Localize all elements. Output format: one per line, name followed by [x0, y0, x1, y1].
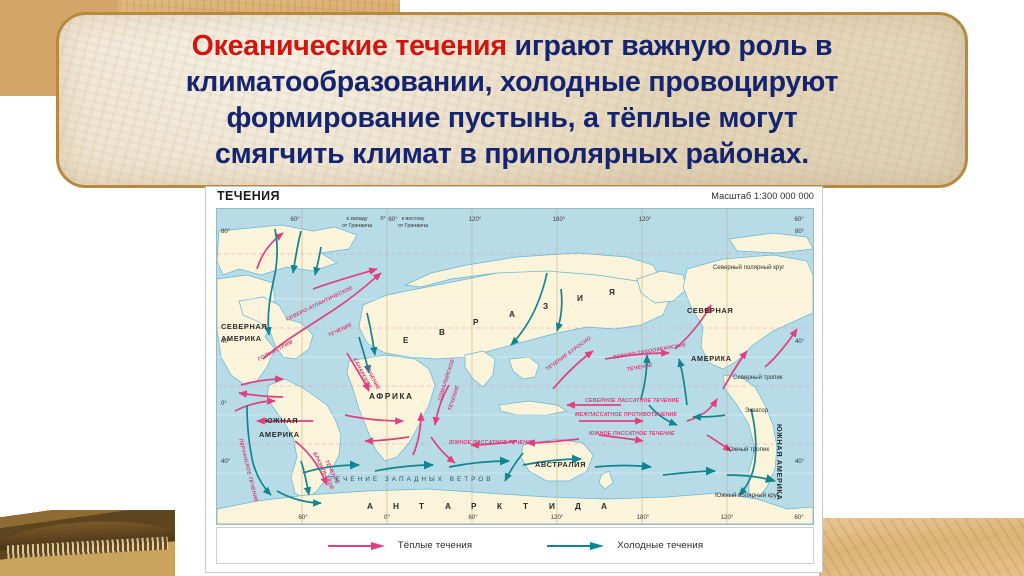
- lat-line-equator: Экватор: [745, 407, 769, 414]
- current-label-equatorial-counter: МЕЖПАССАТНОЕ ПРОТИВОТЕЧЕНИЕ: [575, 412, 677, 418]
- lat-label-right: 40°: [795, 458, 805, 465]
- greenwich-east-label-2: от Гринвича: [398, 223, 428, 229]
- page-title: Океанические течения играют важную роль …: [72, 28, 952, 172]
- grid-label-top: 120°: [469, 216, 482, 223]
- grid-label-bottom: 180°: [637, 514, 650, 521]
- continent-label-africa: АФРИКА: [369, 392, 414, 401]
- continent-label-australia: АВСТРАЛИЯ: [535, 460, 586, 469]
- continent-letter-antarctica: Р: [471, 502, 478, 511]
- lat-label-left: 0°: [221, 400, 227, 407]
- continent-letter-eurasia: В: [439, 328, 447, 337]
- legend-item-cold: Холодные течения: [546, 540, 703, 552]
- lat-line-antarctic-circle: Южный полярный круг: [715, 492, 780, 499]
- grid-label-top: 60°: [290, 216, 300, 223]
- continent-label-south-america: ЮЖНАЯ: [265, 416, 298, 425]
- current-label-south-equatorial: ЮЖНОЕ ПАССАТНОЕ ТЕЧЕНИЕ: [589, 431, 675, 437]
- grid-label-bottom: 120°: [721, 514, 734, 521]
- greenwich-west-label-2: от Гринвича: [342, 223, 372, 229]
- parchment-band-bottom-right: [819, 518, 1024, 576]
- title-line-4: смягчить климат в приполярных районах.: [215, 138, 809, 170]
- continent-label-north-america: СЕВЕРНАЯ: [221, 322, 267, 331]
- continent-letter-eurasia: Е: [403, 336, 410, 345]
- title-line-3: формирование пустынь, а тёплые могут: [227, 102, 798, 134]
- continent-letter-antarctica: Н: [393, 502, 401, 511]
- continent-letter-eurasia: Я: [609, 288, 617, 297]
- world-currents-map: 60° 60° 120° 180° 120° 60° к западу от Г…: [216, 208, 814, 525]
- grid-label-bottom: 60°: [468, 514, 478, 521]
- title-highlight: Океанические течения: [192, 30, 507, 62]
- title-line-2: климатообразовании, холодные провоцируют: [186, 66, 838, 98]
- slide-root: Океанические течения играют важную роль …: [0, 0, 1024, 576]
- greenwich-zero-label: 0°: [380, 216, 385, 222]
- continent-label-south-america-right: ЮЖНАЯ АМЕРИКА: [775, 424, 784, 501]
- warm-arrow-icon: [327, 540, 389, 552]
- lat-line-arctic-circle: Северный полярный круг: [713, 264, 785, 271]
- continent-letter-antarctica: Т: [419, 502, 426, 511]
- legend-label-cold: Холодные течения: [617, 540, 703, 551]
- current-label-north-equatorial: СЕВЕРНОЕ ПАССАТНОЕ ТЕЧЕНИЕ: [585, 398, 679, 404]
- compass-ticks: [7, 536, 168, 558]
- grid-label-top: 60°: [794, 216, 804, 223]
- greenwich-west-label: к западу: [346, 216, 367, 222]
- lat-label-right: 80°: [795, 228, 805, 235]
- continent-letter-eurasia: И: [577, 294, 585, 303]
- grid-label-top: 180°: [553, 216, 566, 223]
- greenwich-east-label: к востоку: [402, 216, 425, 222]
- cold-arrow-icon: [546, 540, 608, 552]
- continent-letter-antarctica: И: [549, 502, 557, 511]
- lat-label-left: 40°: [221, 458, 231, 465]
- map-graphic: 60° 60° 120° 180° 120° 60° к западу от Г…: [217, 209, 813, 524]
- title-rest-line1: играют важную роль в: [507, 30, 833, 62]
- map-legend: Тёплые течения Холодные течения: [216, 527, 814, 564]
- continent-letter-antarctica: А: [601, 502, 609, 511]
- grid-label-bottom: 60°: [298, 514, 308, 521]
- current-label-west-wind-drift: ТЕЧЕНИЕ ЗАПАДНЫХ ВЕТРОВ: [329, 476, 493, 483]
- grid-label-bottom: 120°: [551, 514, 564, 521]
- continent-letter-antarctica: Т: [523, 502, 530, 511]
- continent-label-north-america2: АМЕРИКА: [221, 334, 262, 343]
- title-banner: Океанические течения играют важную роль …: [56, 12, 968, 188]
- current-label-south-equatorial-indian: ЮЖНОЕ ПАССАТНОЕ ТЕЧЕНИЕ: [449, 440, 535, 446]
- map-scale-label: Масштаб 1:300 000 000: [711, 191, 814, 201]
- continent-label-north-america-r2: АМЕРИКА: [691, 354, 732, 363]
- continent-label-south-america2: АМЕРИКА: [259, 430, 300, 439]
- map-header: ТЕЧЕНИЯ Масштаб 1:300 000 000: [206, 187, 822, 208]
- continent-letter-antarctica: К: [497, 502, 504, 511]
- lat-label-right: 40°: [795, 338, 805, 345]
- lat-label-left: 80°: [221, 228, 231, 235]
- continent-label-north-america-r: СЕВЕРНАЯ: [687, 306, 733, 315]
- map-card: ТЕЧЕНИЯ Масштаб 1:300 000 000: [205, 186, 823, 573]
- legend-item-warm: Тёплые течения: [327, 540, 472, 552]
- continent-letter-antarctica: Д: [575, 502, 582, 511]
- continent-letter-eurasia: А: [509, 310, 517, 319]
- grid-label-top: 120°: [639, 216, 652, 223]
- continent-letter-eurasia: З: [543, 302, 550, 311]
- continent-letter-antarctica: А: [367, 502, 375, 511]
- grid-label-top: 60°: [388, 216, 398, 223]
- antique-compass-decoration: [0, 510, 175, 576]
- continent-letter-eurasia: Р: [473, 318, 480, 327]
- grid-label-bottom: 60°: [794, 514, 804, 521]
- continent-letter-antarctica: А: [445, 502, 453, 511]
- compass-rim: [0, 517, 175, 551]
- legend-label-warm: Тёплые течения: [398, 540, 472, 551]
- grid-label-bottom: 0°: [384, 514, 390, 521]
- lat-line-tropic-capricorn: Южный тропик: [727, 446, 769, 453]
- map-title: ТЕЧЕНИЯ: [217, 189, 280, 203]
- lat-line-tropic-cancer: Северный тропик: [733, 374, 783, 381]
